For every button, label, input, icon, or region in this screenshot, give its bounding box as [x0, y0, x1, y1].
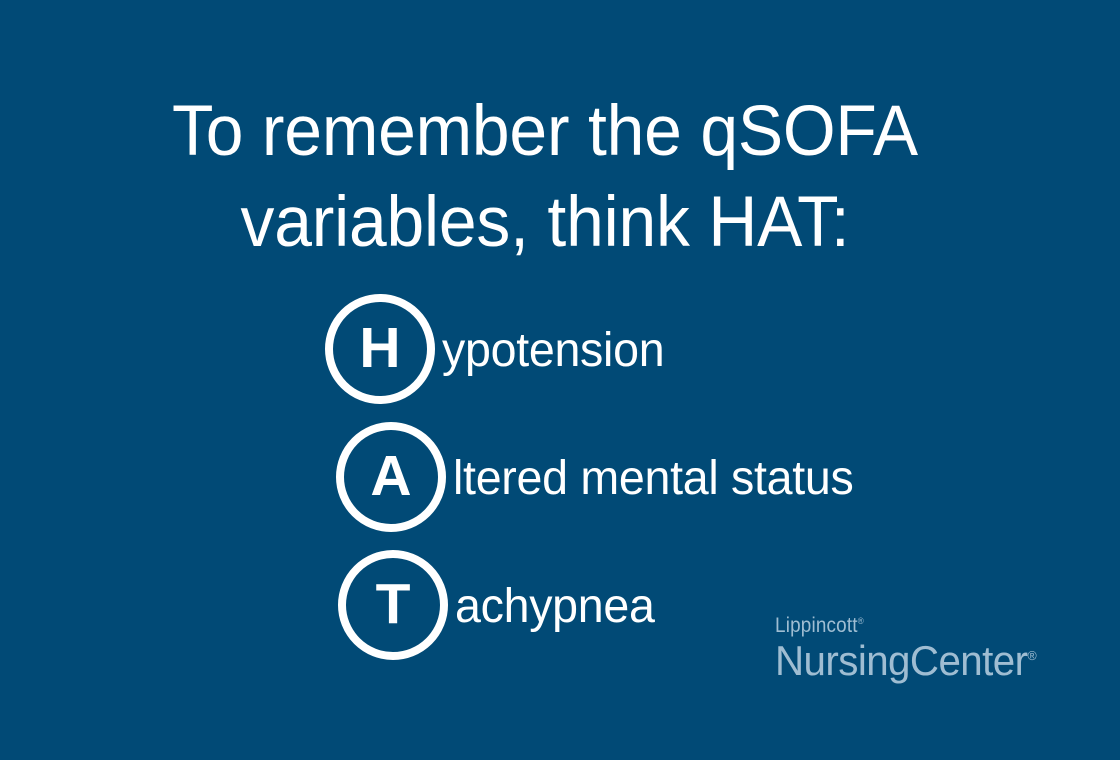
list-item-hypotension: H ypotension — [325, 287, 1085, 411]
mnemonic-text-tachypnea: achypnea — [455, 583, 655, 631]
registered-trademark-icon: ® — [1028, 648, 1037, 663]
badge-circle-t: T — [338, 550, 448, 660]
mnemonic-text-hypotension: ypotension — [442, 327, 664, 375]
title-line-1: To remember the qSOFA — [25, 86, 1066, 177]
logo-product-text: NursingCenter — [775, 637, 1027, 684]
badge-letter-h: H — [359, 320, 400, 377]
mnemonic-list: H ypotension A ltered mental status T ac… — [325, 287, 1085, 667]
slide-canvas: To remember the qSOFA variables, think H… — [0, 0, 1120, 760]
title-line-2: variables, think HAT: — [25, 177, 1066, 268]
page-title: To remember the qSOFA variables, think H… — [0, 86, 1090, 268]
lippincott-nursingcenter-logo: Lippincott® NursingCenter® — [775, 615, 1048, 682]
registered-trademark-icon: ® — [858, 616, 864, 626]
logo-product-nursingcenter: NursingCenter® — [775, 640, 1037, 682]
mnemonic-text-altered-mental-status: ltered mental status — [453, 455, 854, 503]
logo-brand-text: Lippincott — [775, 614, 858, 637]
badge-letter-t: T — [376, 576, 411, 633]
badge-circle-a: A — [336, 422, 446, 532]
logo-brand-lippincott: Lippincott® — [775, 615, 1020, 636]
list-item-altered-mental-status: A ltered mental status — [336, 415, 1085, 539]
badge-circle-h: H — [325, 294, 435, 404]
badge-letter-a: A — [370, 448, 411, 505]
